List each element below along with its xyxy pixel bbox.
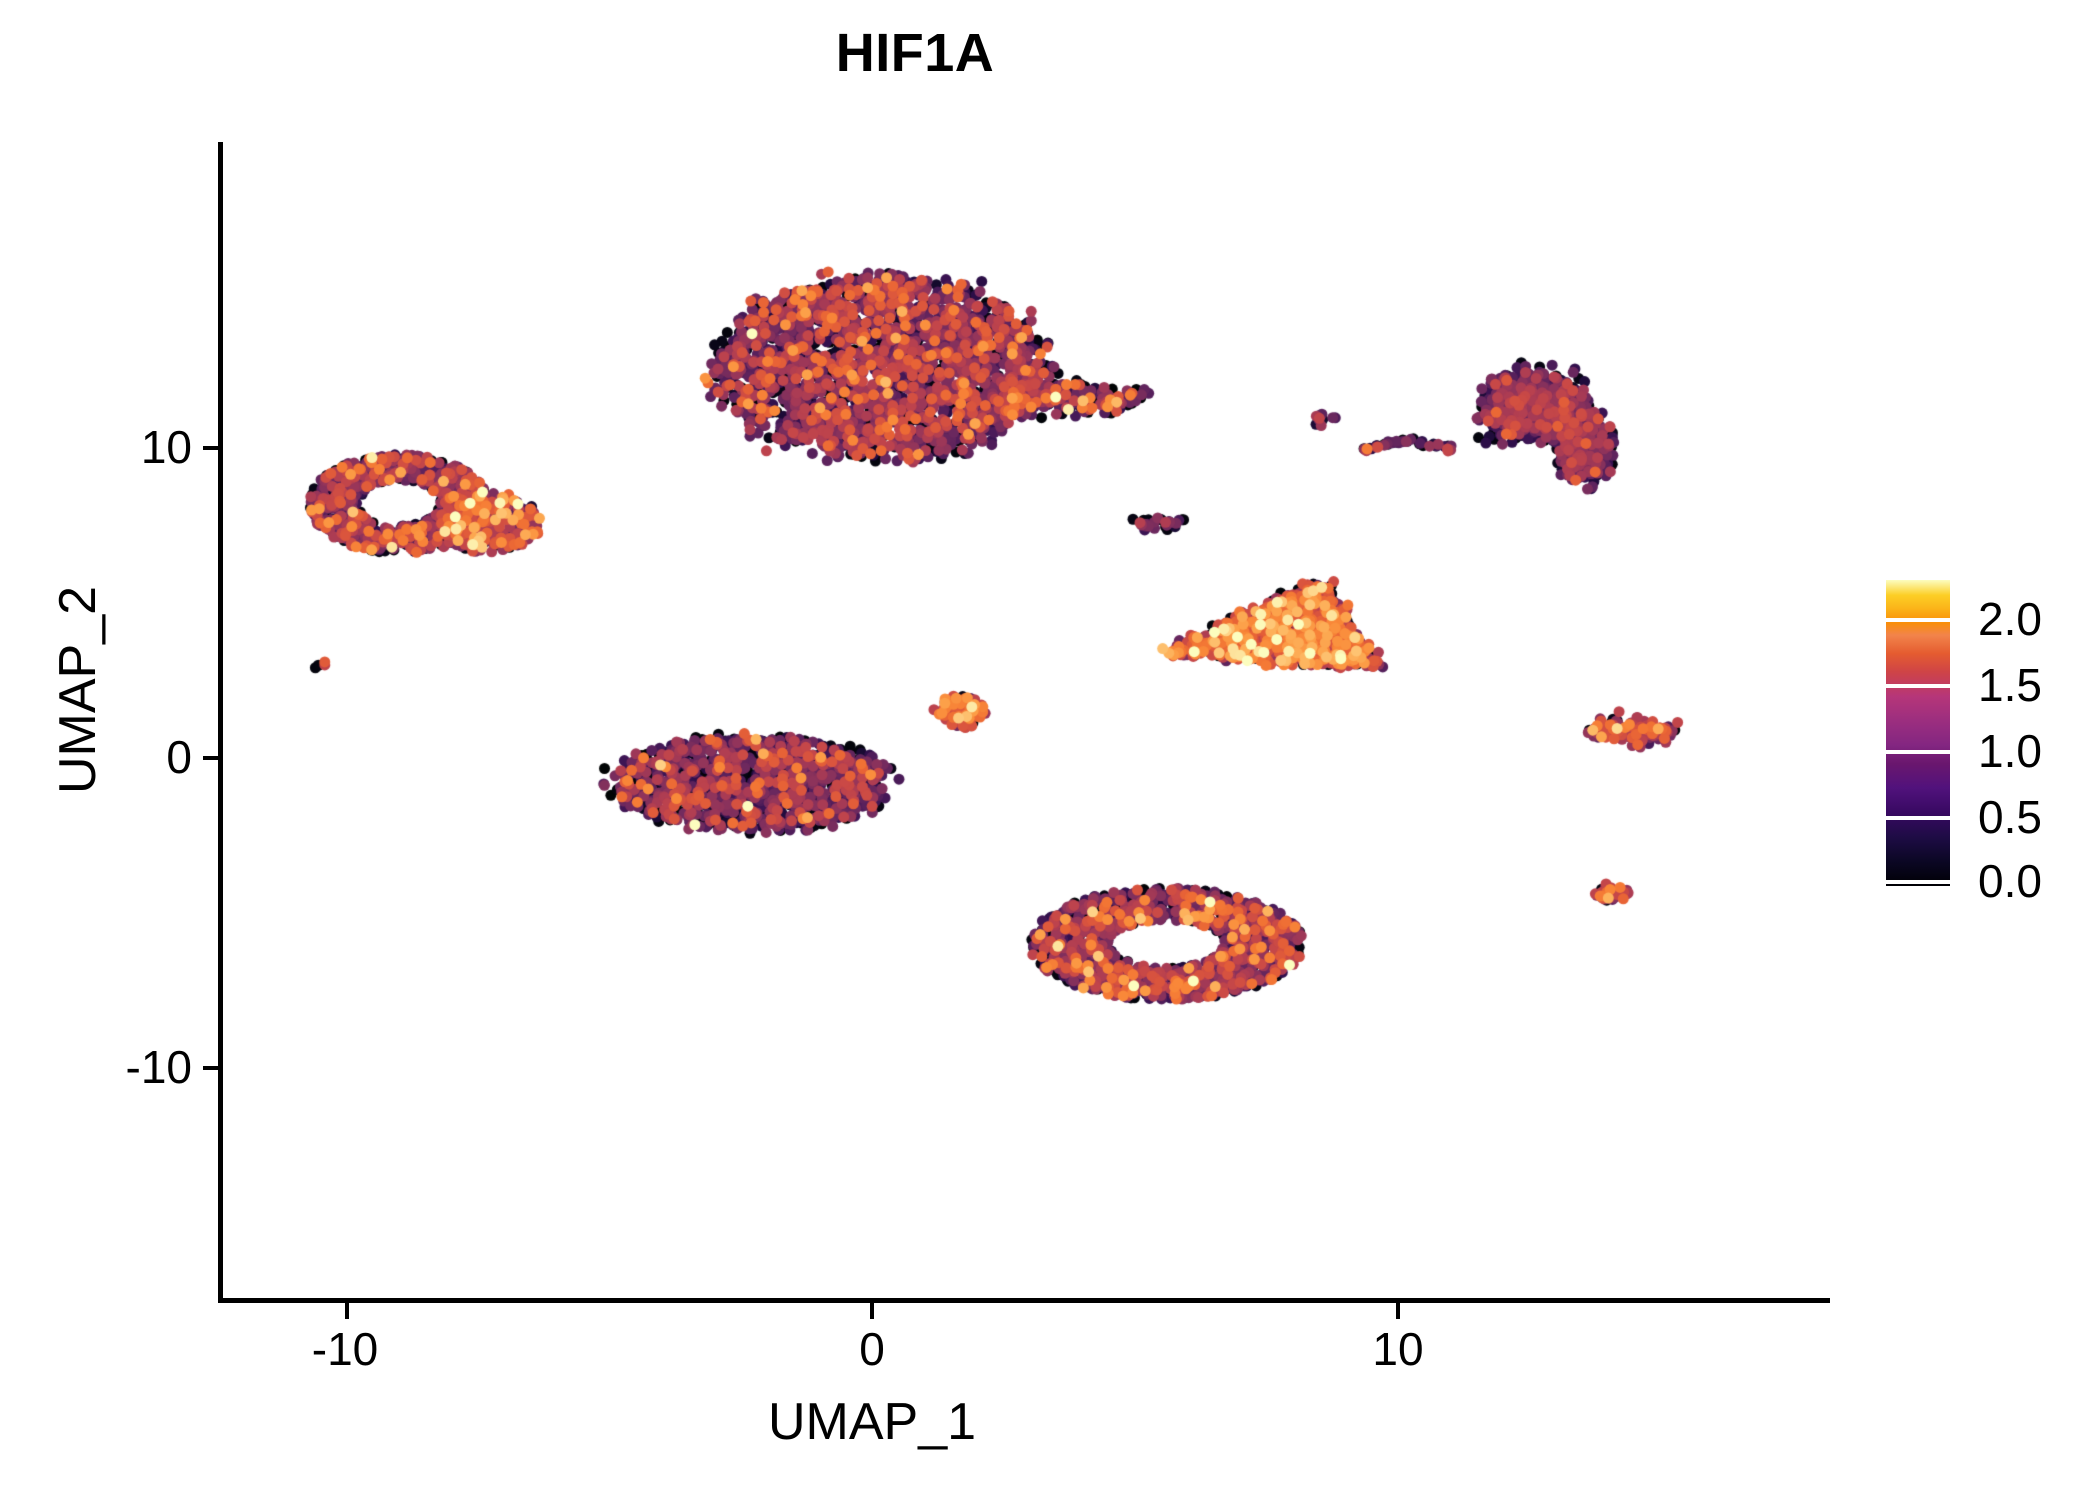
plot-panel	[222, 142, 1830, 1300]
y-tick-mark	[203, 1066, 219, 1070]
x-tick-mark	[345, 1303, 349, 1319]
color-legend: 2.0 1.5 1.0 0.5 0.0	[1886, 580, 2086, 890]
x-tick-label: -10	[245, 1326, 445, 1372]
colorbar-label: 0.5	[1978, 794, 2042, 840]
figure-root: HIF1A 10 0 -10 -10 0 10 UMAP_2 UMAP_1 2.…	[0, 0, 2100, 1500]
colorbar-gradient	[1886, 580, 1950, 886]
y-tick-label: 10	[141, 424, 192, 470]
colorbar-tick	[1886, 816, 1950, 820]
x-axis-line	[218, 1298, 1830, 1303]
colorbar-tick	[1886, 684, 1950, 688]
y-tick-label: 0	[166, 734, 192, 780]
y-axis-line	[218, 142, 223, 1303]
scatter-points-canvas	[222, 142, 1830, 1300]
x-tick-mark	[870, 1303, 874, 1319]
colorbar-label: 1.5	[1978, 662, 2042, 708]
x-tick-label: 0	[772, 1326, 972, 1372]
x-axis-title: UMAP_1	[222, 1392, 1522, 1452]
y-tick-label: -10	[126, 1044, 192, 1090]
colorbar-tick	[1886, 618, 1950, 622]
page-title: HIF1A	[0, 22, 1830, 84]
colorbar-tick	[1886, 750, 1950, 754]
y-tick-mark	[203, 446, 219, 450]
colorbar-tick	[1886, 880, 1950, 884]
y-axis-title: UMAP_2	[48, 530, 108, 850]
colorbar-label: 1.0	[1978, 728, 2042, 774]
x-tick-mark	[1396, 1303, 1400, 1319]
y-tick-mark	[203, 756, 219, 760]
x-tick-label: 10	[1298, 1326, 1498, 1372]
colorbar-label: 2.0	[1978, 596, 2042, 642]
colorbar-label: 0.0	[1978, 858, 2042, 904]
